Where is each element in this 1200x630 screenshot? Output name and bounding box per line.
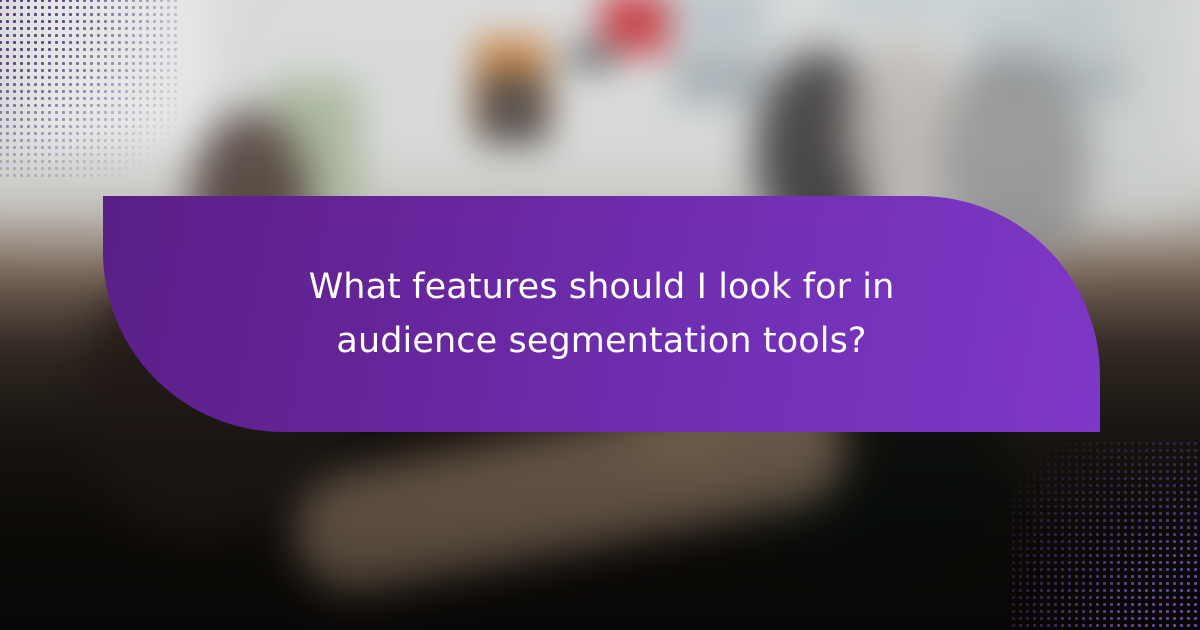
social-card: What features should I look for in audie… [0,0,1200,630]
question-title: What features should I look for in audie… [232,260,972,369]
question-banner: What features should I look for in audie… [103,196,1100,432]
